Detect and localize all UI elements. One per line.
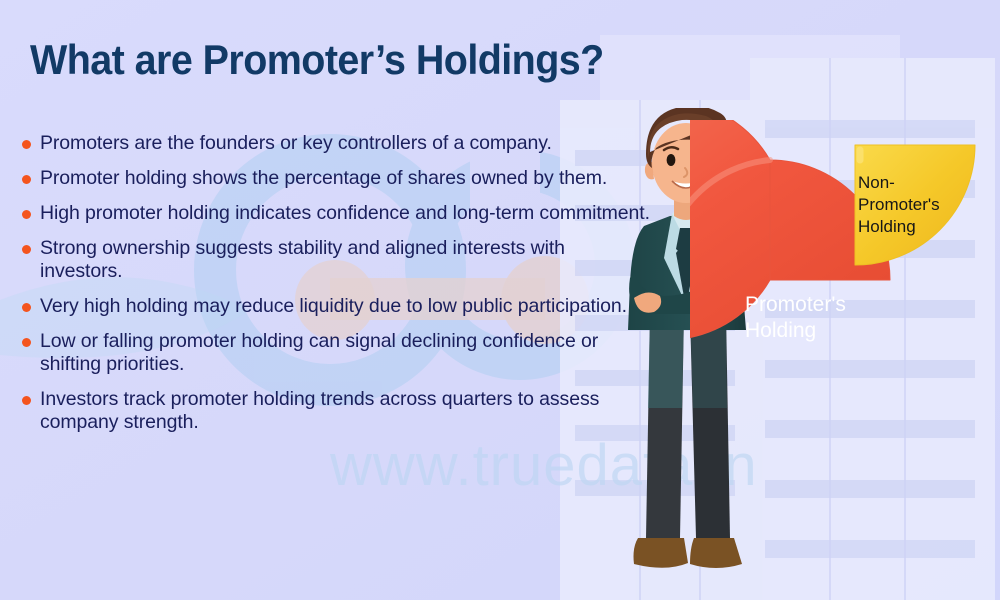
bullet-dot-icon xyxy=(22,338,31,347)
pie-label-promoter-line1: Promoter's xyxy=(745,292,846,318)
list-item: Strong ownership suggests stability and … xyxy=(22,237,652,283)
list-item-label: Investors track promoter holding trends … xyxy=(40,388,652,434)
list-item: Promoter holding shows the percentage of… xyxy=(22,167,652,190)
shoe-left xyxy=(634,538,689,568)
bullet-dot-icon xyxy=(22,140,31,149)
bullet-list: Promoters are the founders or key contro… xyxy=(22,132,652,446)
list-item: Very high holding may reduce liquidity d… xyxy=(22,295,652,318)
list-item-label: Low or falling promoter holding can sign… xyxy=(40,330,652,376)
eye-left xyxy=(667,154,676,166)
list-item: High promoter holding indicates confiden… xyxy=(22,202,652,225)
bullet-dot-icon xyxy=(22,303,31,312)
pie-label-non-promoter: Non- Promoter's Holding xyxy=(858,172,940,238)
bullet-dot-icon xyxy=(22,210,31,219)
list-item-label: Very high holding may reduce liquidity d… xyxy=(40,295,627,318)
list-item: Investors track promoter holding trends … xyxy=(22,388,652,434)
pie-label-non-promoter-line3: Holding xyxy=(858,216,940,238)
pie-label-non-promoter-line2: Promoter's xyxy=(858,194,940,216)
bullet-dot-icon xyxy=(22,396,31,405)
page-title: What are Promoter’s Holdings? xyxy=(30,36,604,84)
list-item-label: High promoter holding indicates confiden… xyxy=(40,202,650,225)
list-item: Promoters are the founders or key contro… xyxy=(22,132,652,155)
list-item: Low or falling promoter holding can sign… xyxy=(22,330,652,376)
list-item-label: Promoters are the founders or key contro… xyxy=(40,132,552,155)
list-item-label: Promoter holding shows the percentage of… xyxy=(40,167,607,190)
pie-chart: Promoter's Holding Non- Promoter's Holdi… xyxy=(690,120,1000,420)
shoe-right xyxy=(690,538,742,568)
list-item-label: Strong ownership suggests stability and … xyxy=(40,237,652,283)
pie-label-non-promoter-line1: Non- xyxy=(858,172,940,194)
pie-label-promoter: Promoter's Holding xyxy=(745,292,846,345)
bullet-dot-icon xyxy=(22,175,31,184)
pie-label-promoter-line2: Holding xyxy=(745,318,846,344)
bullet-dot-icon xyxy=(22,245,31,254)
